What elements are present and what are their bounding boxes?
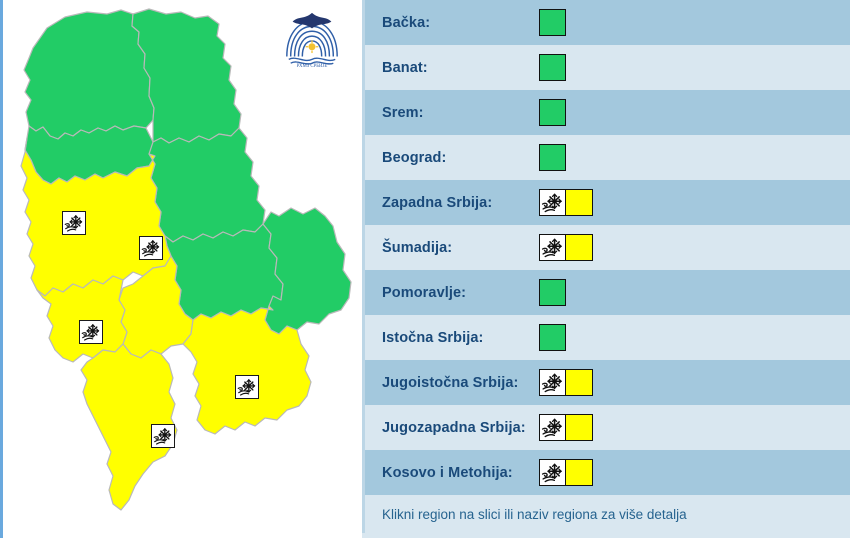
map-hint-footer: Klikni region na slici ili naziv regiona… bbox=[362, 495, 850, 533]
warning-row[interactable]: Kosovo i Metohija: bbox=[362, 450, 850, 495]
map-hint-text: Klikni region na slici ili naziv regiona… bbox=[382, 507, 687, 522]
yellow-warning-swatch bbox=[566, 459, 593, 486]
warning-row[interactable]: Istočna Srbija: bbox=[362, 315, 850, 360]
warning-level-indicator bbox=[539, 54, 566, 81]
snow-blizzard-icon bbox=[539, 234, 566, 261]
warning-level-indicator bbox=[539, 324, 566, 351]
warning-level-indicator bbox=[539, 279, 566, 306]
snow-blizzard-icon bbox=[539, 459, 566, 486]
snow-blizzard-icon bbox=[539, 414, 566, 441]
region-name-label[interactable]: Jugoistočna Srbija: bbox=[382, 375, 539, 391]
warning-row[interactable]: Srem: bbox=[362, 90, 850, 135]
region-name-label[interactable]: Istočna Srbija: bbox=[382, 330, 539, 346]
yellow-warning-swatch bbox=[566, 234, 593, 261]
yellow-warning-swatch bbox=[566, 189, 593, 216]
region-warning-list[interactable]: Bačka:Banat:Srem:Beograd:Zapadna Srbija:… bbox=[362, 0, 850, 538]
region-name-label[interactable]: Srem: bbox=[382, 105, 539, 121]
warning-level-indicator bbox=[539, 189, 593, 216]
no-warning-swatch bbox=[539, 54, 566, 81]
no-warning-swatch bbox=[539, 99, 566, 126]
no-warning-swatch bbox=[539, 9, 566, 36]
region-name-label[interactable]: Bačka: bbox=[382, 15, 539, 31]
warning-row[interactable]: Banat: bbox=[362, 45, 850, 90]
region-name-label[interactable]: Jugozapadna Srbija: bbox=[382, 420, 539, 436]
region-name-label[interactable]: Zapadna Srbija: bbox=[382, 195, 539, 211]
map-region-istocna-srbija[interactable] bbox=[263, 208, 351, 334]
snow-blizzard-icon bbox=[539, 189, 566, 216]
snow-blizzard-icon bbox=[62, 211, 86, 235]
warning-row[interactable]: Zapadna Srbija: bbox=[362, 180, 850, 225]
snow-blizzard-icon bbox=[539, 369, 566, 396]
snow-blizzard-icon bbox=[235, 375, 259, 399]
warning-row[interactable]: Jugoistočna Srbija: bbox=[362, 360, 850, 405]
snow-blizzard-icon bbox=[79, 320, 103, 344]
logo-caption: РХМЗ СРБИЈЕ bbox=[297, 64, 328, 69]
yellow-warning-swatch bbox=[566, 414, 593, 441]
warning-row[interactable]: Pomoravlje: bbox=[362, 270, 850, 315]
warning-row[interactable]: Jugozapadna Srbija: bbox=[362, 405, 850, 450]
snow-blizzard-icon bbox=[151, 424, 175, 448]
map-region-beograd[interactable] bbox=[149, 128, 265, 242]
no-warning-swatch bbox=[539, 324, 566, 351]
warning-row[interactable]: Bačka: bbox=[362, 0, 850, 45]
no-warning-swatch bbox=[539, 279, 566, 306]
warning-level-indicator bbox=[539, 369, 593, 396]
map-region-backa[interactable] bbox=[24, 10, 154, 139]
yellow-warning-swatch bbox=[566, 369, 593, 396]
region-name-label[interactable]: Šumadija: bbox=[382, 240, 539, 256]
rhmz-serbia-logo: РХМЗ СРБИЈЕ bbox=[281, 8, 343, 70]
region-name-label[interactable]: Banat: bbox=[382, 60, 539, 76]
region-name-label[interactable]: Kosovo i Metohija: bbox=[382, 465, 539, 481]
serbia-map-svg[interactable] bbox=[3, 0, 362, 538]
map-region-pomoravlje[interactable] bbox=[165, 224, 283, 320]
warning-level-indicator bbox=[539, 99, 566, 126]
region-name-label[interactable]: Beograd: bbox=[382, 150, 539, 166]
warning-row[interactable]: Beograd: bbox=[362, 135, 850, 180]
warning-level-indicator bbox=[539, 414, 593, 441]
warning-level-indicator bbox=[539, 459, 593, 486]
region-name-label[interactable]: Pomoravlje: bbox=[382, 285, 539, 301]
no-warning-swatch bbox=[539, 144, 566, 171]
warning-level-indicator bbox=[539, 234, 593, 261]
weather-warning-page: РХМЗ СРБИЈЕ Bačka:Banat:Srem:Beograd:Zap… bbox=[0, 0, 850, 538]
warning-level-indicator bbox=[539, 144, 566, 171]
warning-row[interactable]: Šumadija: bbox=[362, 225, 850, 270]
serbia-warning-map[interactable]: РХМЗ СРБИЈЕ bbox=[0, 0, 362, 538]
warning-level-indicator bbox=[539, 9, 566, 36]
snow-blizzard-icon bbox=[139, 236, 163, 260]
